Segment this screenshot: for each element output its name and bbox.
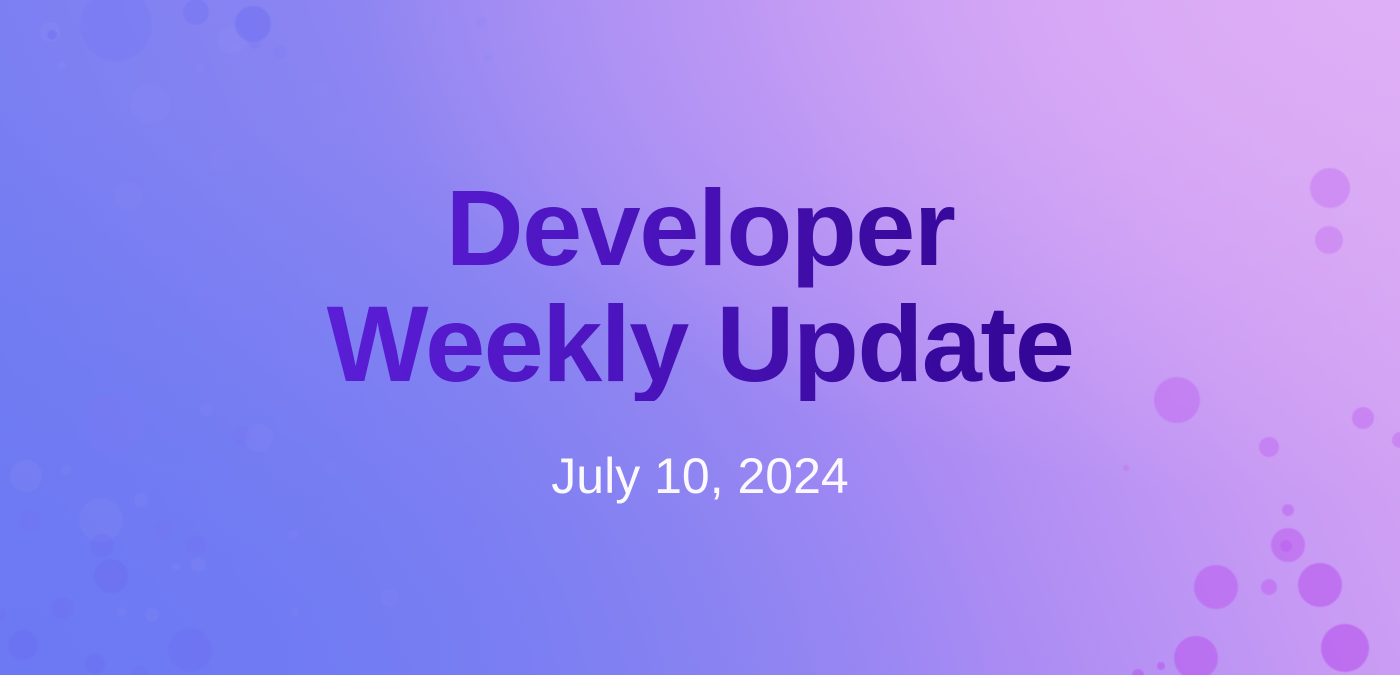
page-title: Developer Weekly Update: [327, 170, 1074, 401]
title-line-1: Developer: [327, 170, 1074, 286]
banner-date: July 10, 2024: [551, 447, 848, 505]
title-line-2: Weekly Update: [327, 286, 1074, 402]
banner-content: Developer Weekly Update July 10, 2024: [0, 0, 1400, 675]
weekly-update-banner: Developer Weekly Update July 10, 2024: [0, 0, 1400, 675]
